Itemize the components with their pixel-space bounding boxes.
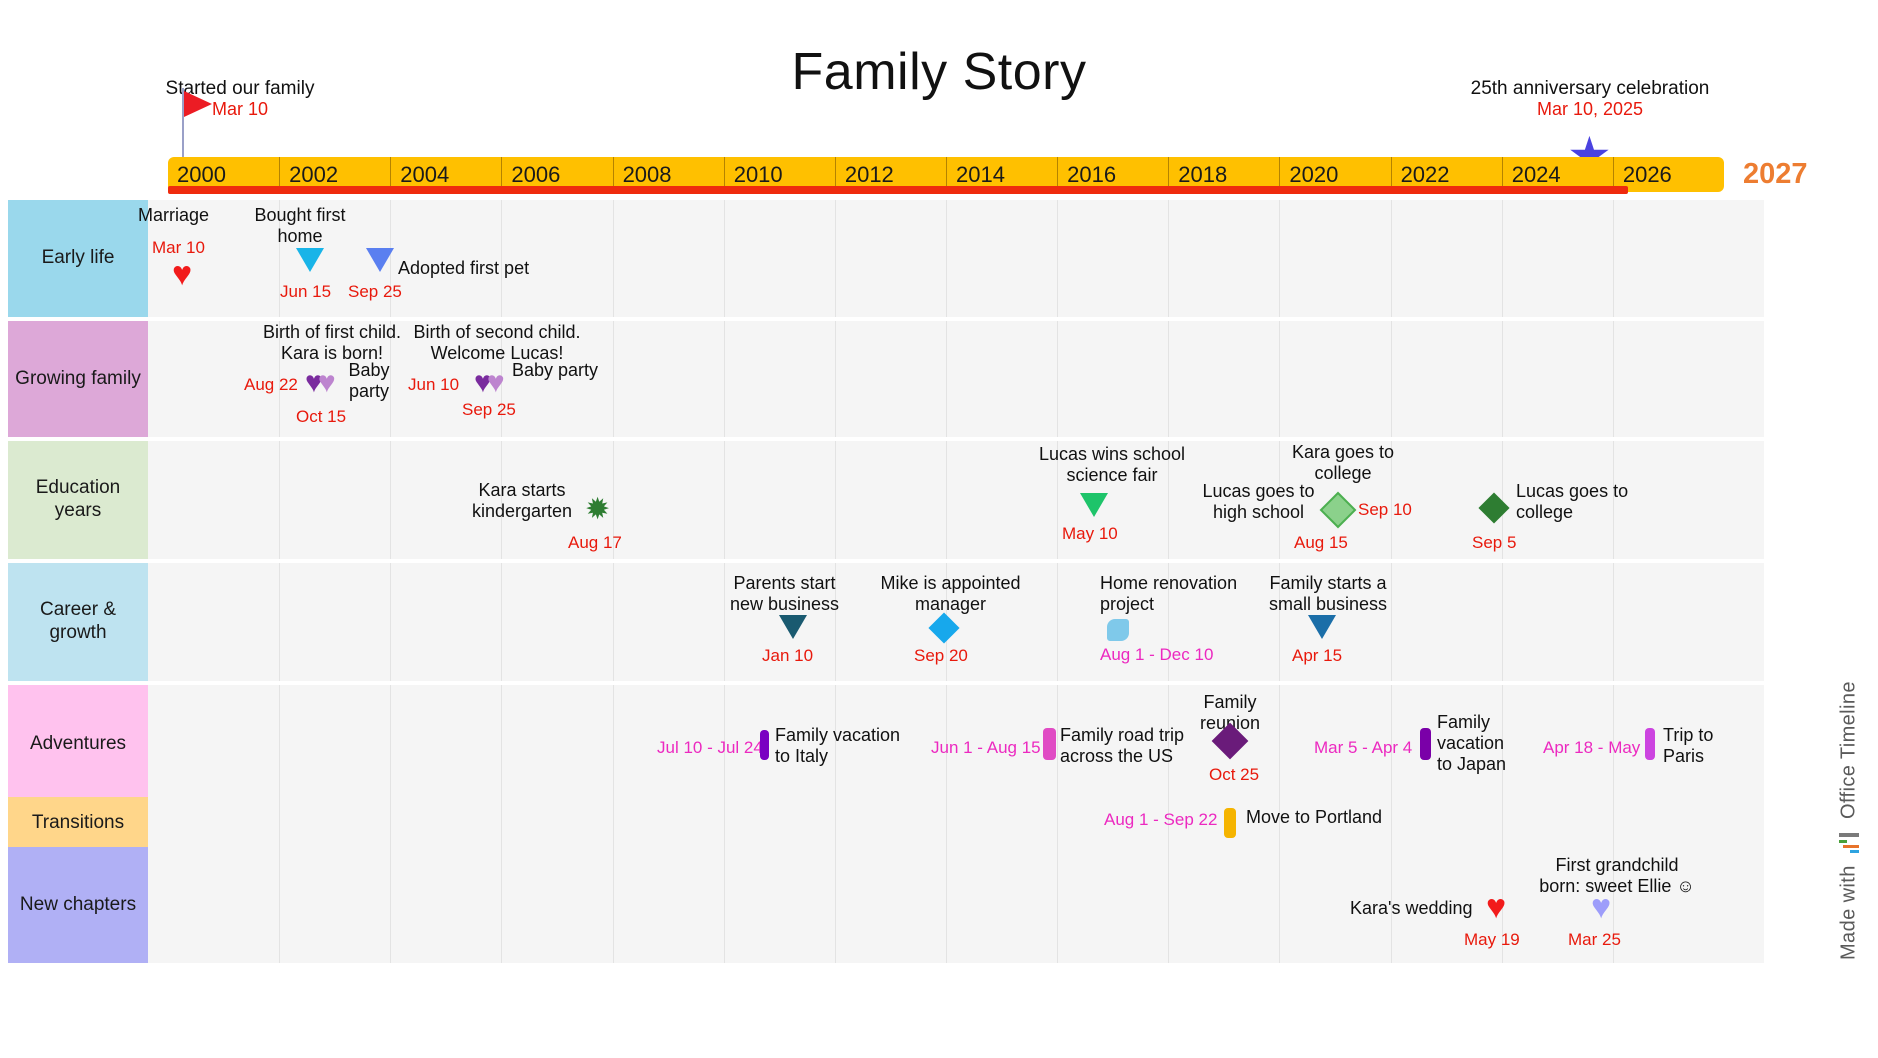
gridline xyxy=(613,797,614,850)
gridline xyxy=(390,847,391,963)
gridline xyxy=(1613,797,1614,850)
gridline xyxy=(946,200,947,317)
triangle-marker xyxy=(779,615,807,639)
gridline xyxy=(501,563,502,681)
item-label: Family vacation to Japan xyxy=(1437,712,1527,775)
product-name: Office Timeline xyxy=(1838,681,1861,819)
heart-icon: ♥ xyxy=(172,257,192,291)
gridline xyxy=(946,847,947,963)
gridline xyxy=(279,797,280,850)
item-label: Marriage xyxy=(138,205,258,226)
gridline xyxy=(501,797,502,850)
item-date: Sep 25 xyxy=(462,400,516,420)
gridline xyxy=(501,685,502,803)
gridline xyxy=(279,441,280,559)
gridline xyxy=(1391,321,1392,437)
item-label: Birth of second child. Welcome Lucas! xyxy=(397,322,597,364)
gridline xyxy=(1613,321,1614,437)
item-date: Sep 10 xyxy=(1358,500,1412,520)
item-label: Trip to Paris xyxy=(1663,725,1753,767)
gridline xyxy=(724,847,725,963)
gridline xyxy=(724,441,725,559)
gridline xyxy=(946,441,947,559)
gridline xyxy=(1057,797,1058,850)
item-date: Mar 5 - Apr 4 xyxy=(1314,738,1412,758)
duration-bar xyxy=(1043,728,1056,760)
swimlane-track-transitions xyxy=(148,797,1764,850)
heart-icon: ♥ xyxy=(1486,890,1506,924)
item-label: First grandchild born: sweet Ellie ☺ xyxy=(1527,855,1707,897)
gridline xyxy=(835,847,836,963)
item-date: Oct 15 xyxy=(296,407,346,427)
gridline xyxy=(1057,200,1058,317)
gridline xyxy=(835,797,836,850)
gridline xyxy=(279,563,280,681)
swimlane-label-education-years[interactable]: Education years xyxy=(8,441,148,559)
item-date: Aug 1 - Dec 10 xyxy=(1100,645,1213,665)
gridline xyxy=(724,797,725,850)
gridline xyxy=(1613,563,1614,681)
gridline xyxy=(835,321,836,437)
item-label: Family vacation to Italy xyxy=(775,725,935,767)
triangle-marker xyxy=(1308,615,1336,639)
gridline xyxy=(1279,847,1280,963)
gridline xyxy=(613,685,614,803)
gridline xyxy=(1502,321,1503,437)
item-label: Adopted first pet xyxy=(398,258,578,279)
item-label: Lucas goes to high school xyxy=(1196,481,1321,523)
triangle-marker xyxy=(1080,493,1108,517)
callout-title: 25th anniversary celebration xyxy=(1400,78,1780,99)
gridline xyxy=(724,200,725,317)
gridline xyxy=(1502,563,1503,681)
item-date: Aug 22 xyxy=(244,375,298,395)
triangle-marker xyxy=(366,248,394,272)
gridline xyxy=(390,441,391,559)
callout-date: Mar 10, 2025 xyxy=(1400,99,1780,119)
item-date: Aug 15 xyxy=(1294,533,1348,553)
gridline xyxy=(1613,200,1614,317)
item-label: Kara goes to college xyxy=(1258,442,1428,484)
item-date: Jun 10 xyxy=(408,375,459,395)
item-label: Lucas wins school science fair xyxy=(1012,444,1212,486)
duration-bar xyxy=(760,730,769,760)
gridline xyxy=(613,563,614,681)
axis-end-year: 2027 xyxy=(1743,157,1808,192)
gridline xyxy=(390,797,391,850)
swimlane-label-growing-family[interactable]: Growing family xyxy=(8,321,148,437)
swimlane-label-adventures[interactable]: Adventures xyxy=(8,685,148,803)
gridline xyxy=(1502,797,1503,850)
gridline xyxy=(1057,321,1058,437)
swimlane-label-early-life[interactable]: Early life xyxy=(8,200,148,317)
duration-bar xyxy=(1645,728,1655,760)
item-label: Baby party xyxy=(512,360,612,381)
item-label: Family starts a small business xyxy=(1248,573,1408,615)
callout-started-our-family[interactable]: Started our family Mar 10 xyxy=(120,78,360,119)
gridline xyxy=(1279,200,1280,317)
gridline xyxy=(724,321,725,437)
gridline xyxy=(613,200,614,317)
gridline xyxy=(613,321,614,437)
duration-bar xyxy=(1107,619,1129,641)
gridline xyxy=(946,797,947,850)
gridline xyxy=(390,563,391,681)
duration-bar xyxy=(1224,808,1236,838)
swimlane-transitions: Transitions xyxy=(8,797,1764,850)
triangle-marker xyxy=(296,248,324,272)
item-date: Apr 18 - May 5 xyxy=(1543,738,1655,758)
item-date: May 19 xyxy=(1464,930,1520,950)
branding[interactable]: Made with Office Timeline xyxy=(1836,560,1862,960)
gridline xyxy=(1057,847,1058,963)
gridline xyxy=(1057,563,1058,681)
item-date: Oct 25 xyxy=(1209,765,1259,785)
item-label: Bought first home xyxy=(245,205,355,247)
item-date: Jul 10 - Jul 24 xyxy=(657,738,763,758)
item-date: Apr 15 xyxy=(1292,646,1342,666)
item-date: Aug 17 xyxy=(568,533,622,553)
axis-progress-bar xyxy=(168,186,1628,194)
item-date: Sep 25 xyxy=(348,282,402,302)
gridline xyxy=(1279,321,1280,437)
item-label: Lucas goes to college xyxy=(1516,481,1646,523)
gridline xyxy=(835,441,836,559)
gridline xyxy=(501,847,502,963)
item-label: Baby party xyxy=(338,360,400,402)
star-marker: ✹ xyxy=(585,495,610,525)
gridline xyxy=(1168,847,1169,963)
gridline xyxy=(613,847,614,963)
item-date: Sep 20 xyxy=(914,646,968,666)
callout-25th-anniversary[interactable]: 25th anniversary celebration Mar 10, 202… xyxy=(1400,78,1780,119)
item-label: Move to Portland xyxy=(1246,807,1426,828)
item-date: Aug 1 - Sep 22 xyxy=(1104,810,1217,830)
swimlane-label-transitions[interactable]: Transitions xyxy=(8,797,148,850)
item-date: Jun 15 xyxy=(280,282,331,302)
gridline xyxy=(390,685,391,803)
item-label: Mike is appointed manager xyxy=(858,573,1043,615)
swimlane-label-career-growth[interactable]: Career & growth xyxy=(8,563,148,681)
callout-title: Started our family xyxy=(120,78,360,99)
made-with-label: Made with xyxy=(1838,865,1861,960)
item-label: Kara starts kindergarten xyxy=(462,480,582,522)
item-date: Jun 1 - Aug 15 xyxy=(931,738,1041,758)
gridline xyxy=(1391,200,1392,317)
gridline xyxy=(1168,321,1169,437)
swimlane-label-new-chapters[interactable]: New chapters xyxy=(8,847,148,963)
double-heart-icon: ♥♥ xyxy=(479,368,505,398)
item-date: May 10 xyxy=(1062,524,1118,544)
gridline xyxy=(1168,200,1169,317)
item-date: Mar 25 xyxy=(1568,930,1621,950)
gridline xyxy=(279,847,280,963)
heart-icon: ♥ xyxy=(1591,890,1611,924)
gridline xyxy=(1057,685,1058,803)
office-timeline-logo-icon xyxy=(1836,829,1862,855)
double-heart-icon: ♥♥ xyxy=(310,368,336,398)
gridline xyxy=(946,321,947,437)
item-date: Jan 10 xyxy=(762,646,813,666)
timeline-canvas: Family Story Started our family Mar 10 2… xyxy=(0,0,1878,1058)
item-date: Sep 5 xyxy=(1472,533,1516,553)
flag-icon xyxy=(184,91,212,117)
gridline xyxy=(279,685,280,803)
swimlane-track-new-chapters xyxy=(148,847,1764,963)
gridline xyxy=(1502,200,1503,317)
axis-year-2026[interactable]: 2026 xyxy=(1613,157,1724,192)
gridline xyxy=(835,200,836,317)
duration-bar xyxy=(1420,728,1431,760)
item-label: Parents start new business xyxy=(722,573,847,615)
item-label: Kara's wedding xyxy=(1350,898,1480,919)
callout-date: Mar 10 xyxy=(120,99,360,119)
